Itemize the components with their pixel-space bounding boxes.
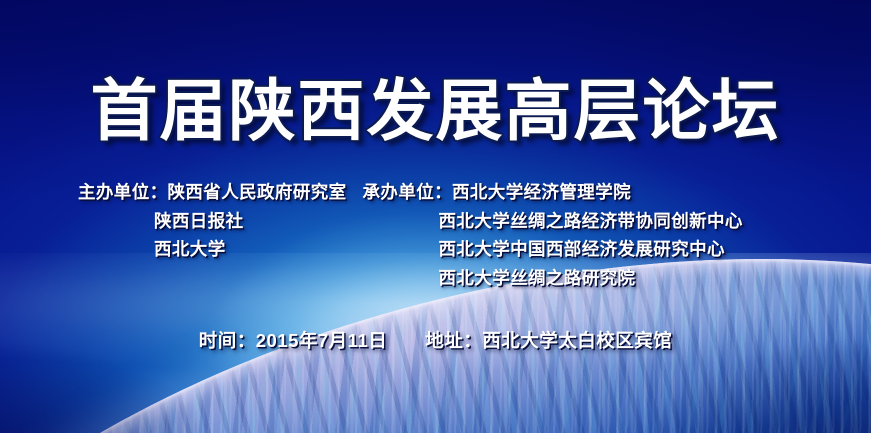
coorganizer-column: 承办单位：西北大学经济管理学院 西北大学丝绸之路经济带协同创新中心 西北大学中国… [363,178,743,292]
coorganizer-line-2: 西北大学丝绸之路经济带协同创新中心 [363,207,743,236]
coorganizer-line-4: 西北大学丝绸之路研究院 [363,264,743,293]
coorganizer-line-3: 西北大学中国西部经济发展研究中心 [363,235,743,264]
banner-content: 首届陕西发展高层论坛 主办单位：陕西省人民政府研究室 陕西日报社 西北大学 承办… [0,0,871,433]
banner-footer: 时间：2015年7月11日 地址：西北大学太白校区宾馆 [0,328,871,354]
event-time: 时间：2015年7月11日 [199,328,388,354]
host-organizer-column: 主办单位：陕西省人民政府研究室 陕西日报社 西北大学 [78,178,347,292]
host-organizer-line-2: 陕西日报社 [78,207,347,236]
event-address: 地址：西北大学太白校区宾馆 [425,328,672,354]
banner-title: 首届陕西发展高层论坛 [0,78,871,145]
host-organizer-line-3: 西北大学 [78,235,347,264]
organizer-block: 主办单位：陕西省人民政府研究室 陕西日报社 西北大学 承办单位：西北大学经济管理… [0,178,871,292]
host-organizer-line-1: 主办单位：陕西省人民政府研究室 [78,178,347,207]
coorganizer-line-1: 承办单位：西北大学经济管理学院 [363,178,743,207]
event-banner: 首届陕西发展高层论坛 主办单位：陕西省人民政府研究室 陕西日报社 西北大学 承办… [0,0,871,433]
